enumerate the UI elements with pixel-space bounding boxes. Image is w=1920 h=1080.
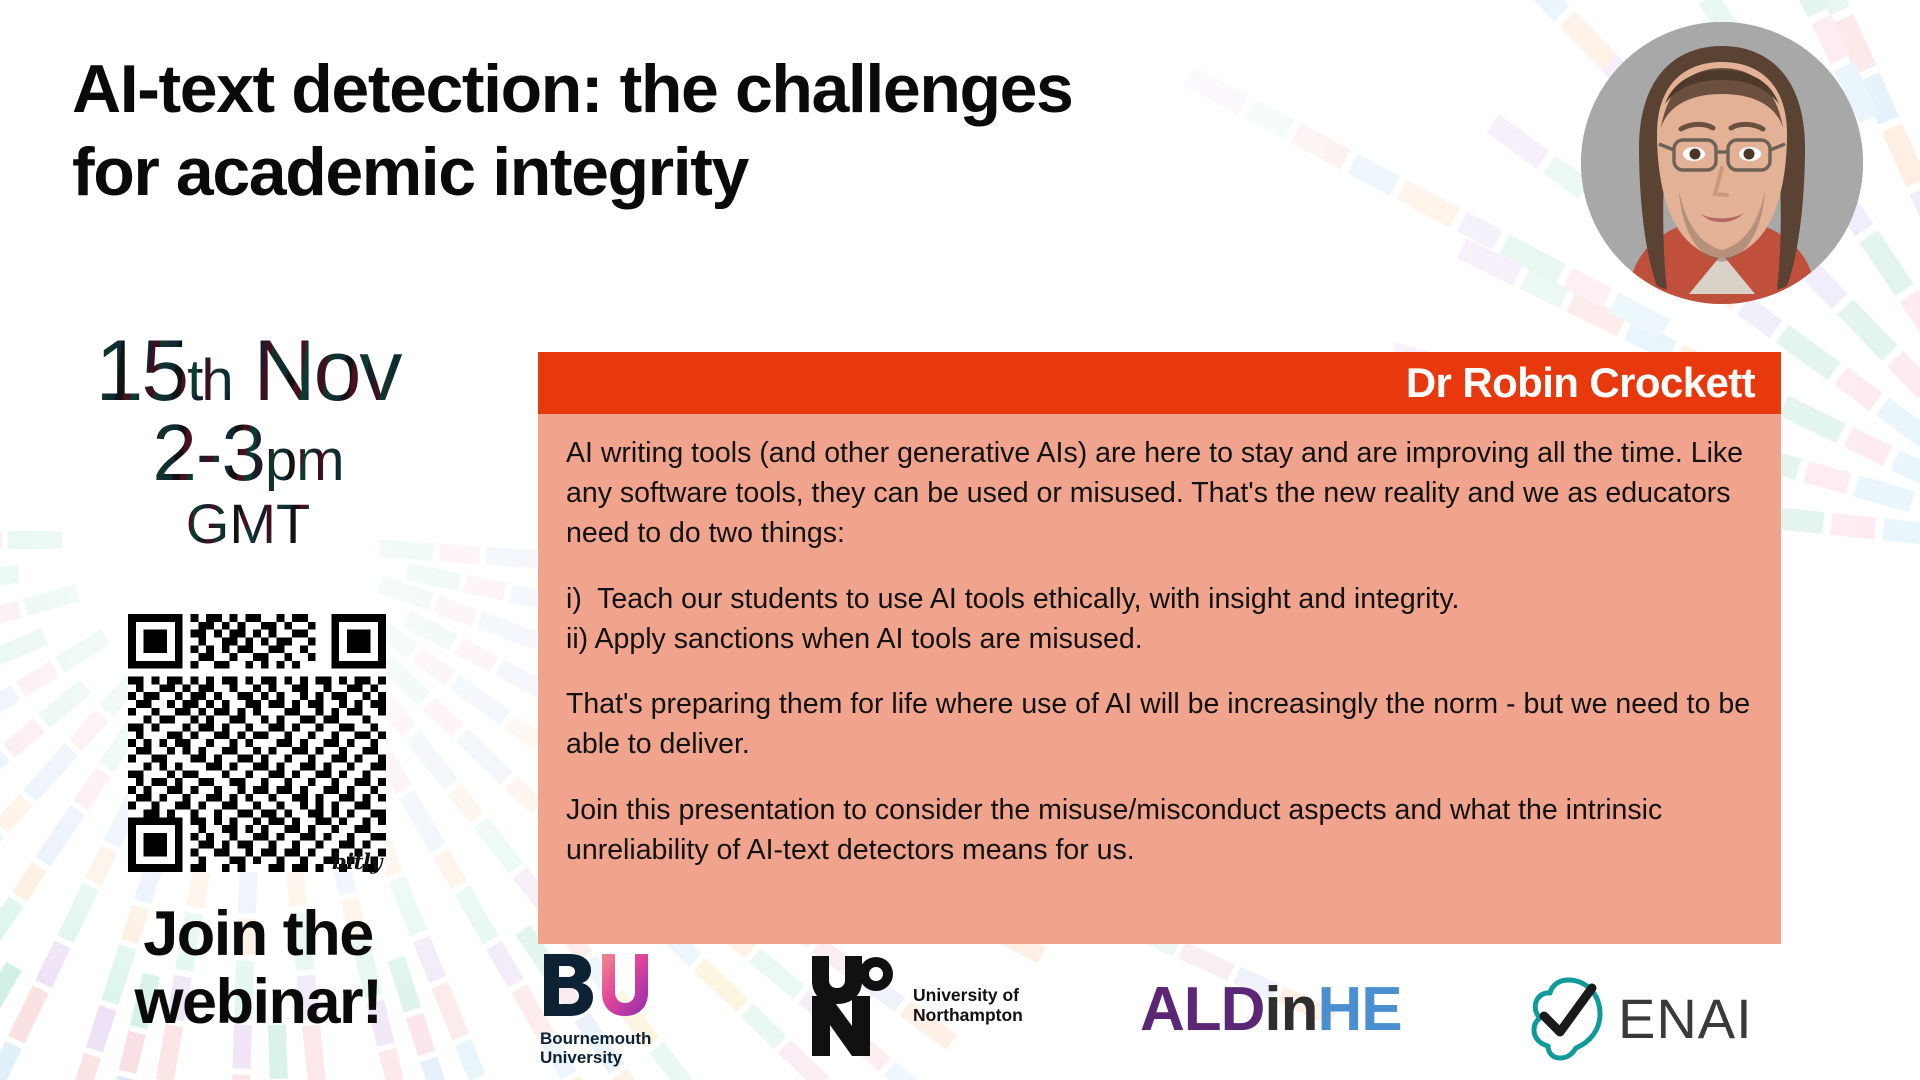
abstract-paragraph-1: AI writing tools (and other generative A… xyxy=(566,434,1753,554)
event-month: Nov xyxy=(254,323,401,419)
abstract-list-item-2: ii) Apply sanctions when AI tools are mi… xyxy=(566,620,1753,660)
abstract-body: AI writing tools (and other generative A… xyxy=(538,414,1781,944)
bournemouth-university-name: Bournemouth University xyxy=(540,1029,658,1067)
event-time-line: 2-3pm xyxy=(58,415,438,492)
abstract-paragraph-3: Join this presentation to consider the m… xyxy=(566,791,1753,871)
event-day-suffix: th xyxy=(187,348,231,413)
event-day: 15 xyxy=(96,323,188,419)
portrait-illustration xyxy=(1581,22,1863,304)
event-time-suffix: pm xyxy=(265,428,344,493)
event-date-line: 15th Nov xyxy=(58,330,438,413)
aldinhe-part-in: in xyxy=(1264,974,1317,1045)
event-time-range: 2-3 xyxy=(152,408,265,497)
uon-university-name: University of Northampton xyxy=(913,986,1023,1026)
speaker-name: Dr Robin Crockett xyxy=(1406,359,1755,407)
abstract-panel: Dr Robin Crockett AI writing tools (and … xyxy=(538,352,1781,944)
abstract-list-item-1: i) Teach our students to use AI tools et… xyxy=(566,580,1753,620)
event-date-block: 15th Nov 2-3pm GMT xyxy=(58,330,438,551)
uon-mark-icon xyxy=(808,954,900,1058)
partner-logos: Bournemouth University University of Nor… xyxy=(520,952,1900,1070)
bitly-label: bitly xyxy=(332,849,382,874)
qr-code-block[interactable]: bitly xyxy=(128,614,386,872)
enai-wordmark: ENAI xyxy=(1618,986,1753,1051)
logo-university-of-northampton: University of Northampton xyxy=(808,954,1023,1058)
logo-aldinhe: ALDinHE xyxy=(1140,974,1402,1045)
join-webinar-cta: Join the webinar! xyxy=(58,900,458,1036)
page-title: AI-text detection: the challenges for ac… xyxy=(72,48,1552,214)
enai-head-check-icon xyxy=(1520,972,1612,1064)
logo-bournemouth-university: Bournemouth University xyxy=(540,952,658,1067)
event-timezone: GMT xyxy=(58,497,438,551)
bournemouth-bu-mark-icon xyxy=(540,952,658,1018)
aldinhe-part-ald: ALD xyxy=(1140,974,1264,1045)
webinar-poster: AI-text detection: the challenges for ac… xyxy=(0,0,1920,1080)
speaker-portrait-avatar xyxy=(1581,22,1863,304)
abstract-list: i) Teach our students to use AI tools et… xyxy=(566,580,1753,660)
abstract-paragraph-2: That's preparing them for life where use… xyxy=(566,685,1753,765)
qr-code-image[interactable] xyxy=(128,614,386,872)
logo-enai: ENAI xyxy=(1520,972,1753,1064)
speaker-name-bar: Dr Robin Crockett xyxy=(538,352,1781,414)
aldinhe-part-he: HE xyxy=(1318,974,1402,1045)
